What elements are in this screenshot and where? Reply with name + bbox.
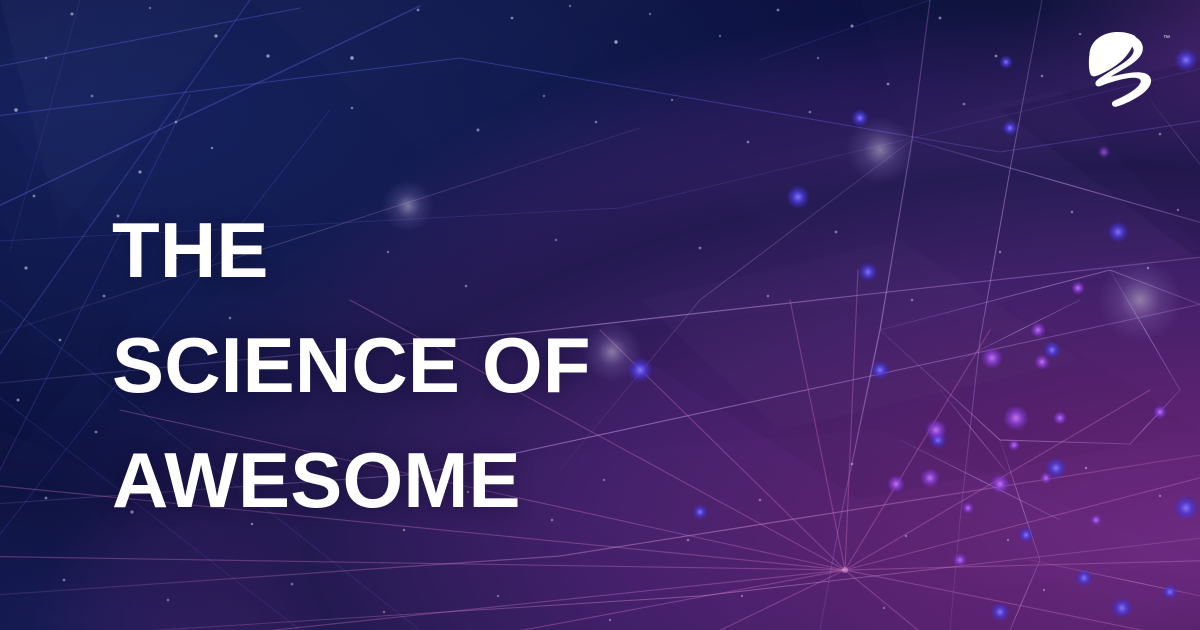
brand-logo[interactable]: ™: [1080, 24, 1172, 116]
headline-line-2: SCIENCE OF: [112, 308, 872, 423]
page-title: THE SCIENCE OF AWESOME: [112, 193, 872, 538]
headline-line-3: AWESOME: [112, 423, 872, 538]
headline-line-1: THE: [112, 193, 872, 308]
trademark-symbol: ™: [1163, 35, 1170, 42]
banner-canvas: THE SCIENCE OF AWESOME ™: [0, 0, 1200, 630]
brushstroke-z-icon: [1089, 32, 1151, 107]
